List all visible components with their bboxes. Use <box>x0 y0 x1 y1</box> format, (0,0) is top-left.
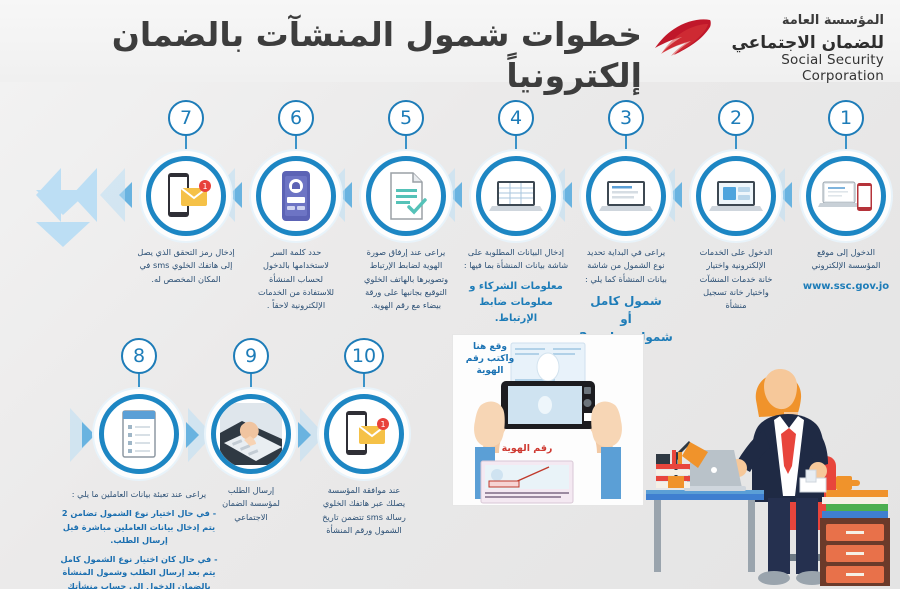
step-10-icon-ring: 1 <box>324 394 404 474</box>
step-8-number: 8 <box>121 338 157 374</box>
step-4-caption: إدخال البيانات المطلوبة علىشاشة بيانات ا… <box>462 246 570 333</box>
svg-text:1: 1 <box>202 182 207 191</box>
page-title: خطوات شمول المنشآت بالضمان إلكترونياً <box>22 14 642 97</box>
password-phone-icon <box>265 165 327 227</box>
infographic-page: خطوات شمول المنشآت بالضمان إلكترونياً ال… <box>0 0 900 589</box>
sms-notification-phone-icon: 1 <box>333 403 395 465</box>
step-4-number: 4 <box>498 100 534 136</box>
chevron-right-icon <box>186 422 199 448</box>
chevron-left-icon <box>36 168 61 222</box>
chevron-left-icon <box>72 168 97 222</box>
step-1-number: 1 <box>828 100 864 136</box>
step-9-number: 9 <box>233 338 269 374</box>
laptop-form-icon <box>595 165 657 227</box>
ssc-logo: المؤسسة العامة للضمان الاجتماعي Social S… <box>647 8 892 74</box>
businessman-at-desk-scene <box>640 338 896 589</box>
step-4-icon-ring <box>476 156 556 236</box>
step-10-number: 10 <box>344 338 384 374</box>
chevron-right-icon <box>82 422 95 448</box>
panel-red-label: رقم الهوية <box>473 443 581 454</box>
businessman-illustration <box>640 338 896 589</box>
step-2-icon-ring <box>696 156 776 236</box>
document-check-icon <box>375 165 437 227</box>
step-3-number: 3 <box>608 100 644 136</box>
step-5-number: 5 <box>388 100 424 136</box>
step-7-caption: إدخال رمز التحقق الذي يصلإلى هاتفك الخلو… <box>132 246 240 292</box>
step-5-caption: يراعى عند إرفاق صورةالهوية لضابط الإرتبا… <box>356 246 456 318</box>
id-photo-instruction-panel: وقع هنا واكتب رقم الهوية رقم الهوية <box>452 334 644 506</box>
step-9-caption: إرسال الطلبلمؤسسة الضمانالاجتماعي <box>201 484 301 530</box>
step-8-icon-ring <box>99 394 179 474</box>
chevron-left-icon <box>100 168 125 222</box>
logo-english-text: Social Security Corporation <box>716 52 884 84</box>
svg-text:1: 1 <box>380 420 385 429</box>
step-2-number: 2 <box>718 100 754 136</box>
step-9-icon-ring <box>211 394 291 474</box>
panel-blue-note: وقع هنا واكتب رقم الهوية <box>461 341 519 377</box>
step-6-icon-ring <box>256 156 336 236</box>
laptop-eservices-icon <box>705 165 767 227</box>
logo-arabic-text: المؤسسة العامة للضمان الاجتماعي <box>716 12 884 55</box>
logo-arabic-line1: المؤسسة العامة <box>716 12 884 31</box>
header-bar: خطوات شمول المنشآت بالضمان إلكترونياً ال… <box>0 0 900 82</box>
step-2-caption: الدخول على الخدماتالإلكترونية واختيارخان… <box>686 246 786 318</box>
laptop-table-icon <box>485 165 547 227</box>
chevron-down-icon <box>36 222 90 247</box>
checklist-icon <box>108 403 170 465</box>
chevron-right-icon <box>298 422 311 448</box>
step-6-caption: حدد كلمة السرلاستخدامها بالدخوللحساب الم… <box>244 246 348 318</box>
ssc-website-link[interactable]: www.ssc.gov.jo <box>803 281 889 292</box>
step-5-icon-ring <box>366 156 446 236</box>
laptop-and-phone-icon <box>815 165 877 227</box>
step-1-icon-ring <box>806 156 886 236</box>
red-bird-logo-icon <box>652 17 714 61</box>
step-8-caption: يراعى عند تعبئة بيانات العاملين ما يلي :… <box>59 488 219 589</box>
step-1-caption: الدخول إلى موقعالمؤسسة الإلكتروني www.ss… <box>794 246 898 301</box>
step-6-number: 6 <box>278 100 314 136</box>
hand-typing-laptop-icon <box>220 403 282 465</box>
step-7-number: 7 <box>168 100 204 136</box>
step-10-caption: عند موافقة المؤسسةيصلك عبر هاتفك الخلوير… <box>306 484 422 543</box>
step-3-icon-ring <box>586 156 666 236</box>
step-7-icon-ring: 1 <box>146 156 226 236</box>
sms-phone-icon: 1 <box>155 165 217 227</box>
